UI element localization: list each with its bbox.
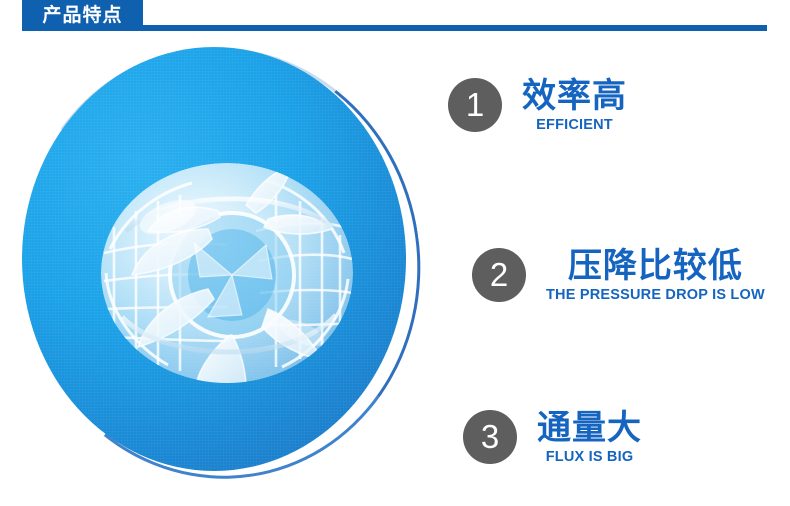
feature-item-3: 3 通量大 FLUX IS BIG [463, 410, 642, 465]
feature-text-group-2: 压降比较低 THE PRESSURE DROP IS LOW [546, 248, 765, 303]
packing-ball-photo [96, 157, 358, 389]
feature-title-en-2: THE PRESSURE DROP IS LOW [546, 287, 765, 303]
section-title-label: 产品特点 [42, 6, 122, 25]
feature-item-2: 2 压降比较低 THE PRESSURE DROP IS LOW [472, 248, 765, 303]
page-header: 产品特点 [0, 0, 790, 40]
feature-number-badge-3: 3 [463, 410, 517, 464]
product-image-panel [14, 40, 434, 490]
section-title-tab: 产品特点 [22, 0, 143, 31]
feature-title-en-3: FLUX IS BIG [546, 449, 634, 465]
feature-number-badge-2: 2 [472, 248, 526, 302]
feature-title-cn-3: 通量大 [537, 410, 642, 447]
feature-text-group-1: 效率高 EFFICIENT [522, 78, 627, 133]
feature-list: 1 效率高 EFFICIENT 2 压降比较低 THE PRESSURE DRO… [440, 40, 790, 500]
header-divider-rule [143, 25, 767, 31]
feature-title-en-1: EFFICIENT [536, 117, 613, 133]
feature-title-cn-1: 效率高 [522, 78, 627, 115]
feature-number-badge-1: 1 [448, 78, 502, 132]
feature-text-group-3: 通量大 FLUX IS BIG [537, 410, 642, 465]
feature-title-cn-2: 压降比较低 [568, 248, 743, 285]
feature-item-1: 1 效率高 EFFICIENT [448, 78, 627, 133]
product-photo-disc [22, 47, 406, 471]
